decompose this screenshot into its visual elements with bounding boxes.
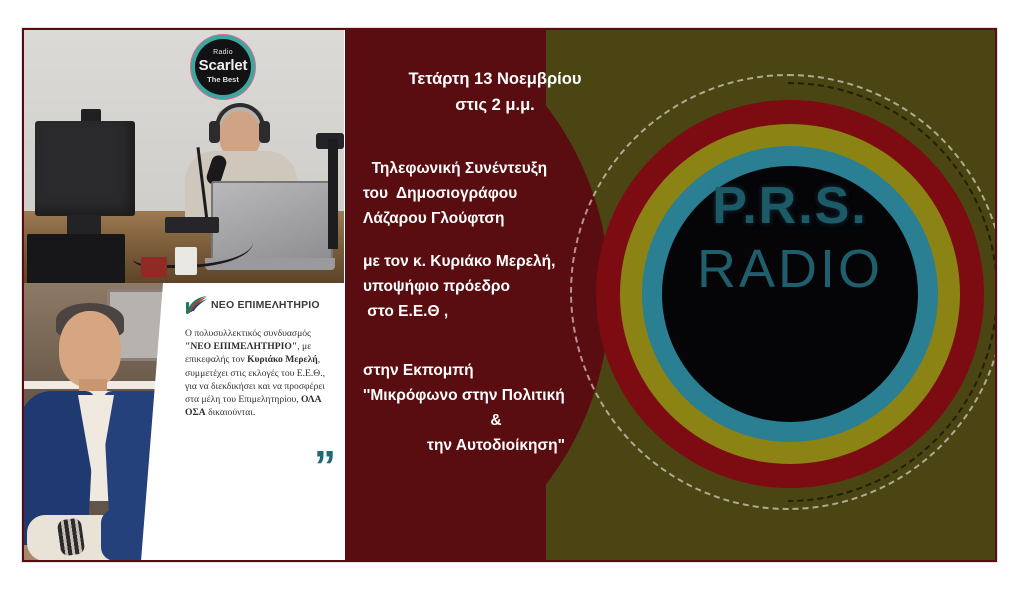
badge-label-scarlet: Scarlet [195,57,251,74]
date-line-2: στις 2 μ.μ. [345,92,645,118]
interview-line-2: του Δημοσιογράφου [363,181,547,206]
candidate-bracelet [57,518,86,557]
quote-mark-icon: ” [314,445,336,489]
info-card: ΝΕΟ ΕΠΙΜΕΛΗΤΗΡΙΟ Ο πολυσυλλεκτικός συνδυ… [141,283,344,561]
badge-label-tagline: The Best [195,75,251,84]
neo-epimelitirio-logo-text: ΝΕΟ ΕΠΙΜΕΛΗΤΗΡΙΟ [211,299,320,311]
show-line-2: ''Μικρόφωνο στην Πολιτική [351,383,641,408]
prs-radio-logo: P.R.S. RADIO [662,180,918,296]
guest-line-2: υποψήφιο πρόεδρο [363,274,555,299]
card-paragraph: Ο πολυσυλλεκτικός συνδυασμός "ΝΕΟ ΕΠΙΜΕΛ… [185,327,331,419]
radio-scarlet-badge: Radio Scarlet The Best [195,39,251,95]
presentation-slide: P.R.S. RADIO Τετάρτη 13 Νοεμβρίου στις 2… [22,28,997,562]
radio-studio-photo: Radio Scarlet The Best [23,29,344,283]
computer-tower [27,234,125,283]
interview-line-1: Τηλεφωνική Συνέντευξη [363,156,547,181]
date-line-1: Τετάρτη 13 Νοεμβρίου [345,66,645,92]
swoosh-icon [185,295,209,315]
guest-line-1: με τον κ. Κυριάκο Μερελή, [363,249,555,274]
interview-line-3: Λάζαρου Γλούφτση [363,206,547,231]
red-equipment-box [141,257,167,277]
neo-epimelitirio-logo: ΝΕΟ ΕΠΙΜΕΛΗΤΗΡΙΟ [185,293,331,321]
mic-stand-pole [328,139,338,249]
announcement-text-column: Τετάρτη 13 Νοεμβρίου στις 2 μ.μ. Τηλεφων… [345,28,645,562]
announcement-show-block: στην Εκπομπή ''Μικρόφωνο στην Πολιτική &… [351,358,641,458]
show-line-1: στην Εκπομπή [351,358,641,383]
candidate-section: ΝΕΟ ΕΠΙΜΕΛΗΤΗΡΙΟ Ο πολυσυλλεκτικός συνδυ… [23,283,344,561]
candidate-head [59,311,121,387]
power-adapter [175,247,197,275]
photo-column: Radio Scarlet The Best [22,28,345,562]
prs-logo-word-radio: RADIO [662,242,918,296]
prs-logo-initials: P.R.S. [662,180,918,232]
announcement-guest-block: με τον κ. Κυριάκο Μερελή, υποψήφιο πρόεδ… [363,249,555,324]
headphones-earcup-right [259,121,270,143]
show-line-4: την Αυτοδιοίκηση" [351,433,641,458]
computer-monitor [35,121,135,216]
announcement-date-block: Τετάρτη 13 Νοεμβρίου στις 2 μ.μ. [345,66,645,118]
radio-logo-rings: P.R.S. RADIO [620,124,960,464]
headphones-earcup-left [209,121,220,143]
guest-line-3: στο Ε.Ε.Θ , [363,299,555,324]
announcement-interview-block: Τηλεφωνική Συνέντευξη του Δημοσιογράφου … [363,156,547,231]
show-line-3: & [351,408,641,433]
badge-label-radio: Radio [195,49,251,56]
